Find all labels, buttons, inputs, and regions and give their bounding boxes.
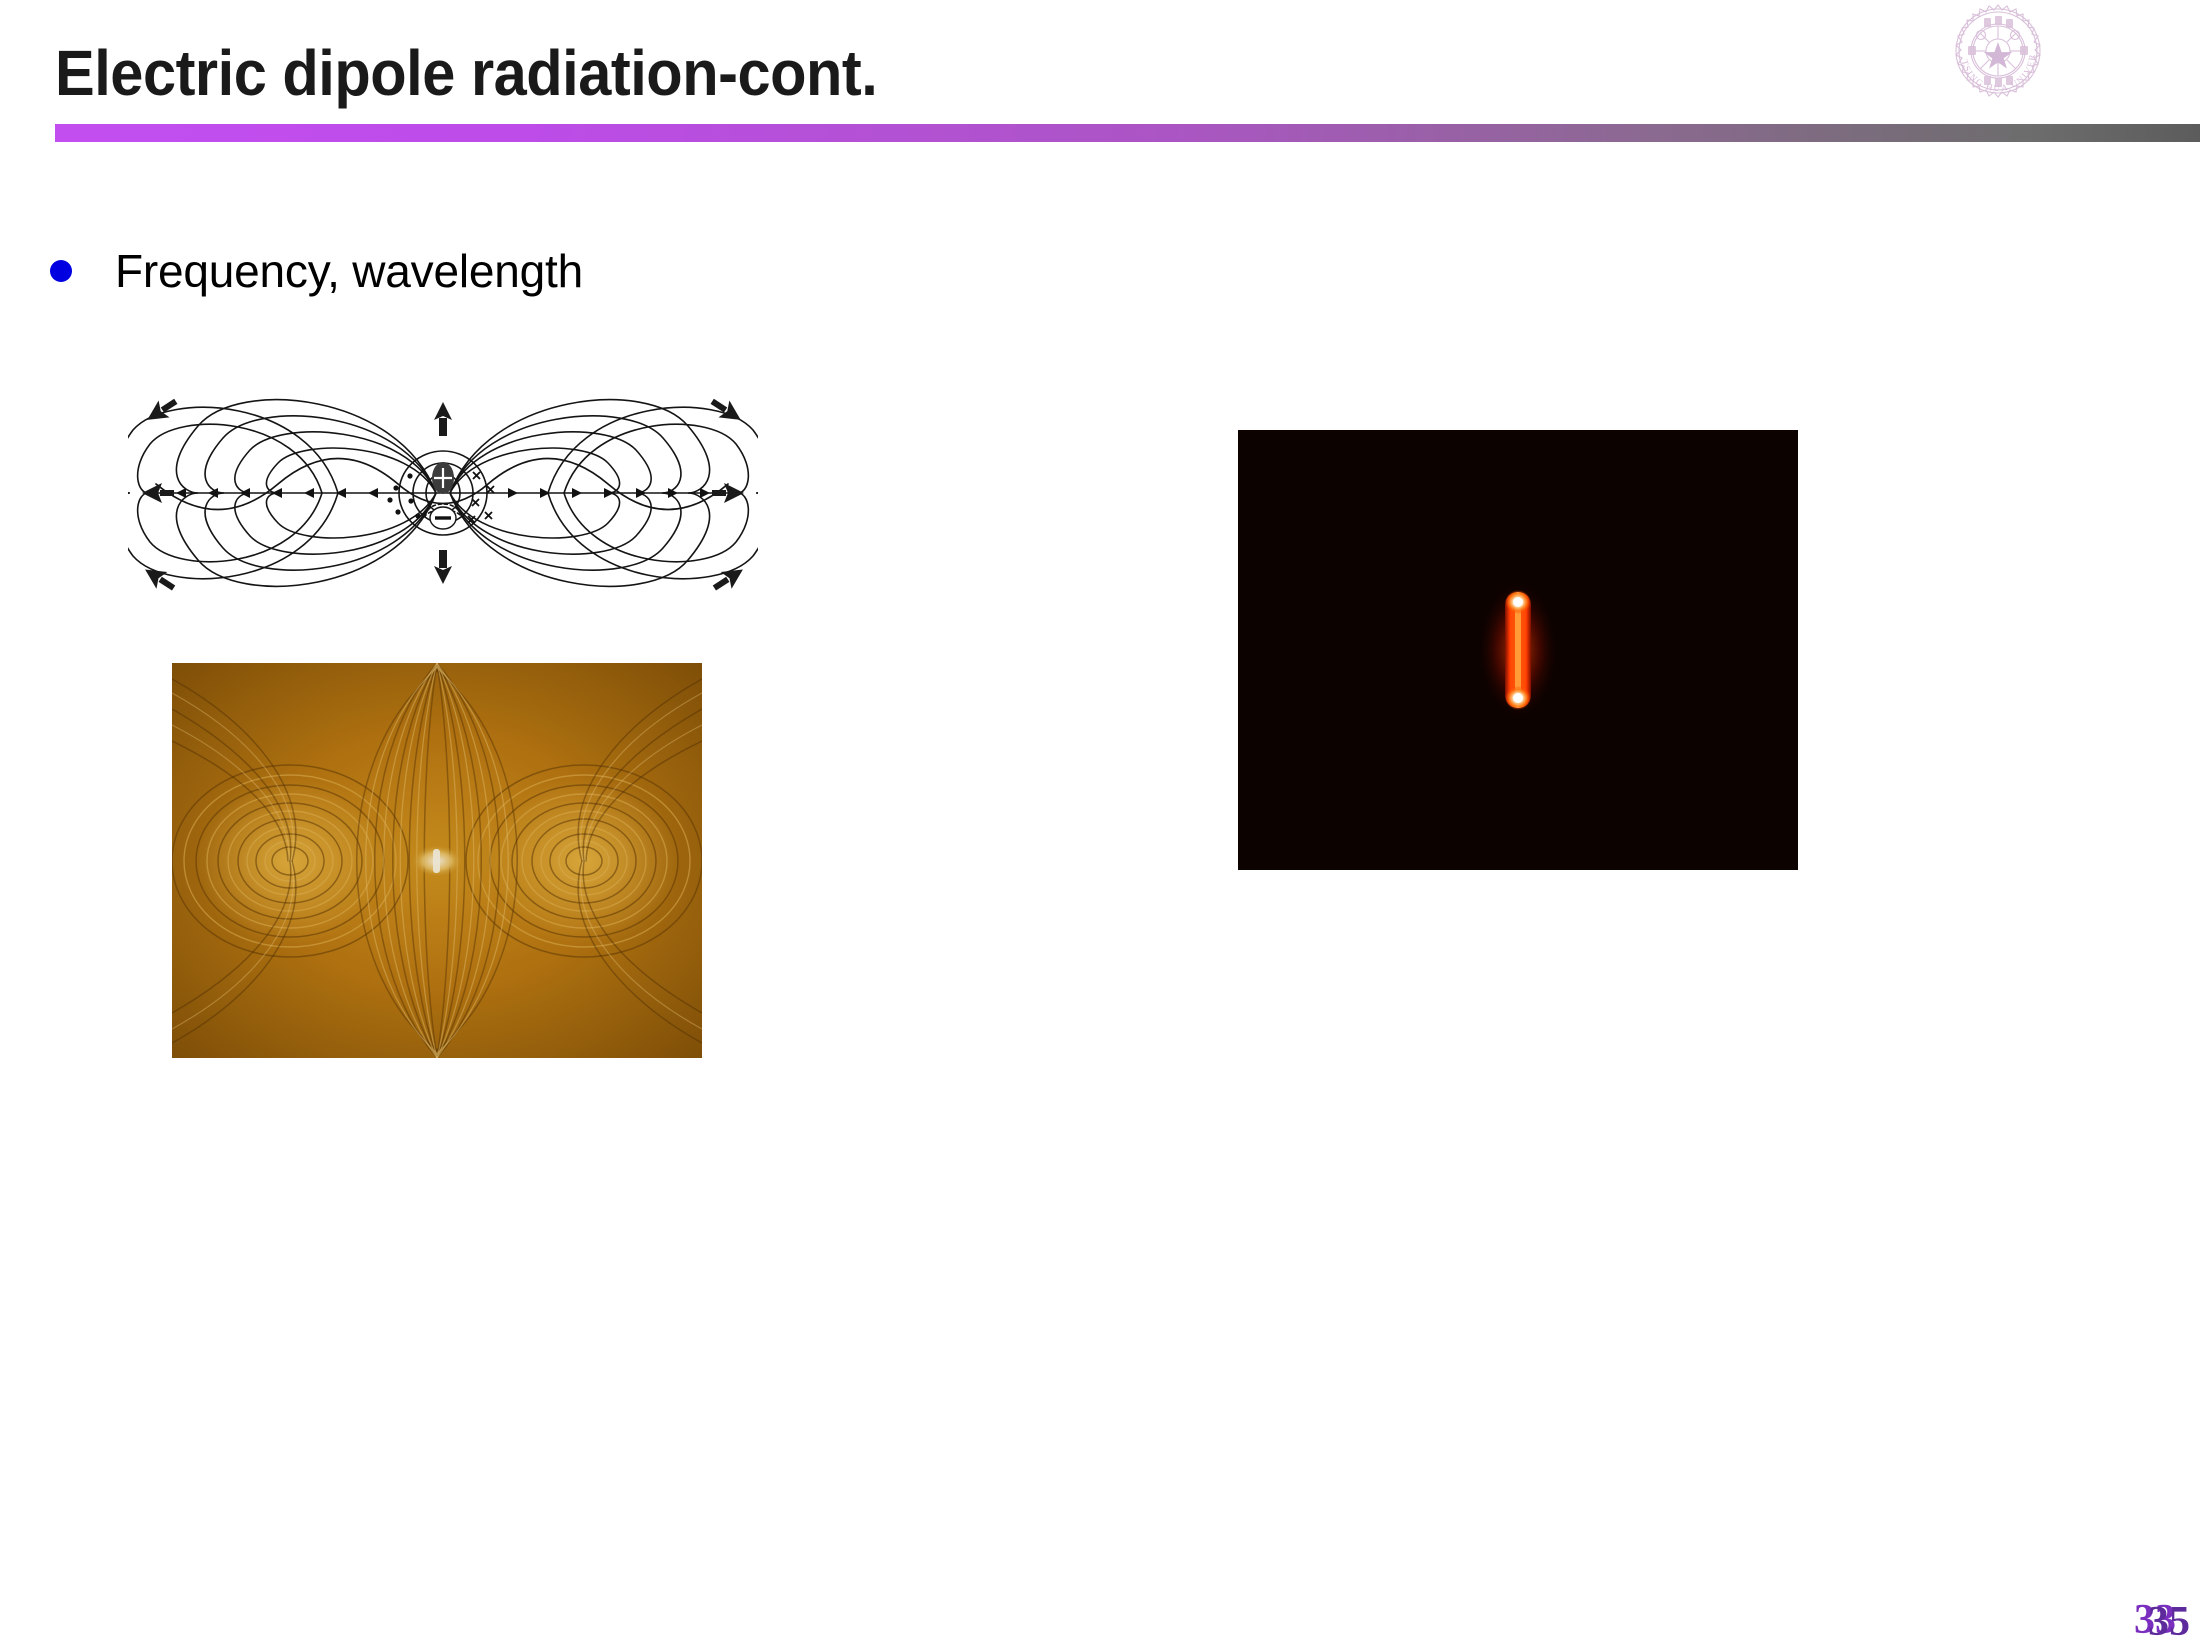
- title-accent-bar: [55, 124, 2200, 142]
- bullet-item-label: Frequency, wavelength: [115, 248, 583, 294]
- figure-orange-field-texture: [172, 663, 702, 1058]
- slide-number-primary: 35: [2148, 1598, 2190, 1646]
- dipole-lic-texture: [172, 663, 702, 1058]
- page-title: Electric dipole radiation-cont.: [55, 36, 877, 110]
- positive-charge-marker: [432, 462, 454, 494]
- arrow-right: [712, 483, 744, 503]
- propagation-arrows: [140, 393, 749, 596]
- arrow-left: [142, 483, 174, 503]
- antenna-glow-graphic: [1473, 570, 1563, 730]
- negative-charge-marker: [430, 507, 456, 529]
- arrow-up-left: [142, 393, 181, 428]
- bullet-dot-icon: [50, 260, 72, 282]
- figure-glowing-dipole-antenna: [1238, 430, 1798, 870]
- figure-lineart-dipole-field: [128, 368, 758, 618]
- tsinghua-seal-logo: TSING HUA UNIVERSITY: [1938, 2, 2058, 122]
- arrow-up: [434, 402, 452, 436]
- arrow-down: [434, 550, 452, 584]
- arrow-down-right: [709, 561, 748, 596]
- slide-number: 33 35: [2040, 1586, 2190, 1646]
- dipole-field-lines-drawing: [128, 368, 758, 618]
- bullet-list-item: Frequency, wavelength: [50, 248, 583, 294]
- slide-canvas: Electric dipole radiation-cont.: [0, 0, 2200, 1650]
